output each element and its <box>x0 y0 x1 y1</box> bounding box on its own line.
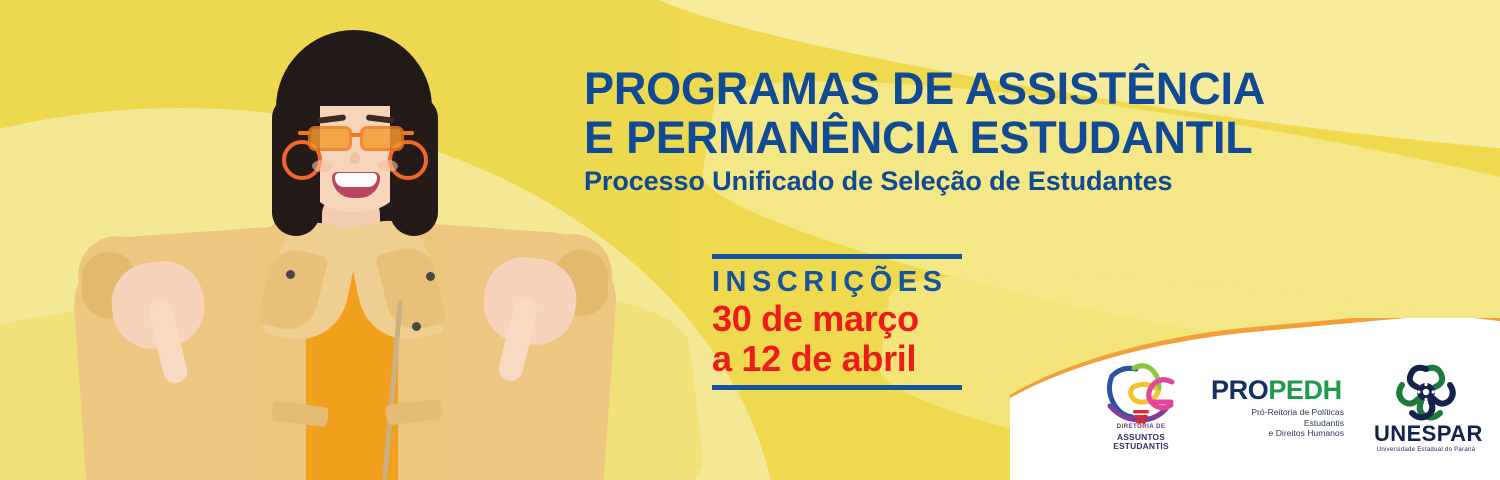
rule-bottom <box>712 385 962 390</box>
registration-date-line-2: a 12 de abril <box>712 339 962 379</box>
dae-line-2: ASSUNTOS ESTUDANTIS <box>1098 433 1184 451</box>
unespar-emblem-icon <box>1396 363 1456 421</box>
dae-bulb-svg <box>1098 360 1184 426</box>
unespar-wordmark: UNESPAR <box>1374 423 1478 445</box>
promotional-banner: PROGRAMAS DE ASSISTÊNCIA E PERMANÊNCIA E… <box>0 0 1500 480</box>
registration-date-line-1: 30 de março <box>712 299 962 339</box>
cheek-left <box>312 160 332 172</box>
registration-block: INSCRIÇÕES 30 de março a 12 de abril <box>712 254 962 390</box>
headline-line-2: E PERMANÊNCIA ESTUDANTIL <box>584 113 1414 162</box>
propedh-subtitle: Pró-Reitoria de Políticas Estudantis e D… <box>1211 407 1344 439</box>
sunglasses-lens-right <box>360 126 404 151</box>
cheek-right <box>378 160 398 172</box>
headline-block: PROGRAMAS DE ASSISTÊNCIA E PERMANÊNCIA E… <box>584 64 1414 198</box>
jacket-snap <box>286 270 295 279</box>
unespar-logo: UNESPAR Universidade Estadual do Paraná <box>1374 363 1478 453</box>
jacket-snap <box>412 322 421 331</box>
student-photo <box>60 0 620 480</box>
sunglasses-bridge <box>350 133 362 137</box>
logo-row: DIRETORIA DE ASSUNTOS ESTUDANTIS PROPEDH… <box>1098 358 1478 458</box>
sunglasses-lens-left <box>308 126 352 151</box>
headline-line-1: PROGRAMAS DE ASSISTÊNCIA <box>584 64 1414 113</box>
hair-fringe <box>294 44 418 106</box>
propedh-word-part-1: PRO <box>1211 375 1268 405</box>
teeth <box>335 173 377 187</box>
propedh-subtitle-line-1: Pró-Reitoria de Políticas Estudantis <box>1211 407 1344 428</box>
jacket-snap <box>426 272 435 281</box>
dae-line-1: DIRETORIA DE <box>1098 424 1184 431</box>
rule-top <box>712 254 962 259</box>
nose <box>350 152 360 164</box>
propedh-word-part-2: PEDH <box>1268 375 1341 405</box>
propedh-subtitle-line-2: e Direitos Humanos <box>1211 428 1344 439</box>
unespar-subtitle: Universidade Estadual do Paraná <box>1374 446 1478 453</box>
dae-logo: DIRETORIA DE ASSUNTOS ESTUDANTIS <box>1098 360 1184 456</box>
propedh-wordmark: PROPEDH <box>1211 377 1347 404</box>
dae-lightbulb-icon <box>1098 360 1184 426</box>
registration-label: INSCRIÇÕES <box>712 268 962 297</box>
headline-subtitle: Processo Unificado de Seleção de Estudan… <box>584 164 1414 198</box>
propedh-logo: PROPEDH Pró-Reitoria de Políticas Estuda… <box>1211 377 1347 439</box>
